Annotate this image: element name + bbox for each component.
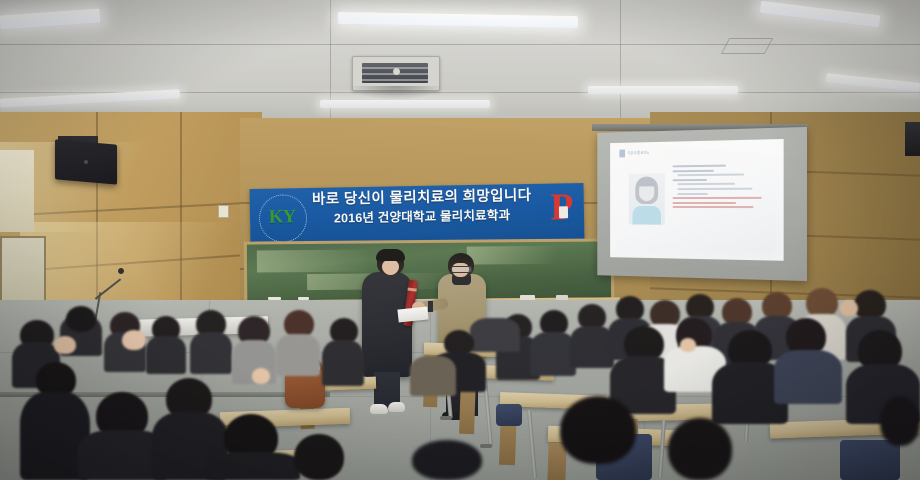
audience-face [122, 330, 146, 350]
ceiling-light [588, 86, 738, 94]
banner-text: 바로 당신이 물리치료의 희망입니다 2016년 건양대학교 물리치료학과 [306, 188, 539, 227]
audience-member [206, 452, 300, 480]
wall-speaker [905, 122, 920, 156]
audience-head [294, 434, 344, 480]
audience-head [668, 418, 732, 480]
slide-bullet-icon [619, 150, 625, 158]
student-shoe [370, 404, 388, 414]
ceiling-access-panel [721, 38, 774, 54]
physical-therapy-association-logo: P [546, 187, 579, 230]
ky-logo-text: KY [259, 206, 305, 229]
desk-foot [480, 444, 492, 448]
audience-member [146, 336, 186, 374]
student-hair [376, 249, 405, 261]
chair-back [496, 404, 522, 426]
audience-head [66, 306, 96, 332]
ceiling-monitor [55, 139, 117, 184]
banner-line-1: 바로 당신이 물리치료의 희망입니다 [306, 188, 538, 210]
ceiling-light [320, 100, 490, 108]
ceiling-light [338, 12, 578, 28]
audience-member [322, 340, 364, 386]
desk-foot [440, 416, 452, 420]
chair-back [840, 440, 900, 480]
slide-portrait-illustration [629, 173, 665, 224]
ceiling-light [0, 9, 100, 30]
banner-line-2: 2016년 건양대학교 물리치료학과 [306, 207, 538, 226]
presenter-cuff [428, 301, 433, 312]
vent-shadow [348, 86, 444, 100]
ky-university-logo: KY [259, 194, 306, 241]
wall-switch-plate[interactable] [218, 205, 229, 218]
ceiling-light [826, 73, 920, 92]
audience-member [470, 318, 520, 352]
audience-hand [840, 300, 858, 316]
slide-header-text: профиль [628, 150, 650, 156]
projected-slide: профиль [610, 139, 784, 261]
glasses-icon [451, 266, 472, 273]
projection-screen: профиль [597, 127, 807, 281]
audience-head [560, 396, 636, 464]
audience-head [412, 440, 482, 480]
audience-hand [680, 338, 696, 352]
lecture-hall-photo: KY 바로 당신이 물리치료의 희망입니다 2016년 건양대학교 물리치료학과… [0, 0, 920, 480]
student-shoe [388, 402, 405, 412]
slide-header: профиль [619, 149, 649, 157]
audience-face [54, 336, 76, 354]
audience-head [880, 396, 920, 446]
ceiling-light [760, 1, 881, 28]
audience-member [774, 350, 842, 404]
slide-text-lines [673, 164, 778, 211]
audience-hand [252, 368, 270, 384]
audience-fur-hood [410, 356, 456, 396]
event-banner: KY 바로 당신이 물리치료의 희망입니다 2016년 건양대학교 물리치료학과… [250, 183, 585, 246]
audience-member [190, 332, 232, 374]
chalkboard [244, 238, 615, 303]
window-upper [0, 150, 34, 232]
audience-member [276, 334, 320, 376]
microphone-icon [118, 268, 124, 274]
